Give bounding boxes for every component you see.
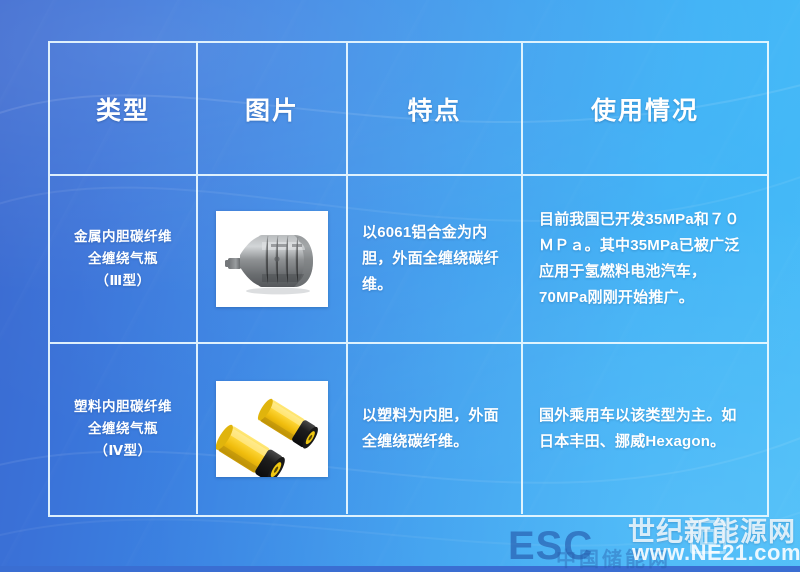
table-header-row: 类型 图片 特点 使用情况 <box>50 43 767 174</box>
metal-liner-cylinder-photo <box>216 211 328 307</box>
cell-picture-row2 <box>196 344 346 514</box>
usage-text-row1: 目前我国已开发35MPa和７０ＭＰａ。其中35MPa已被广泛应用于氢燃料电池汽车… <box>523 207 767 311</box>
type-name-line: 金属内胆碳纤维 <box>74 226 172 248</box>
table-row: 金属内胆碳纤维 全缠绕气瓶 （Ⅲ型） <box>50 174 767 344</box>
table-header-cell-type: 类型 <box>50 43 196 174</box>
type-name-block-row1: 金属内胆碳纤维 全缠绕气瓶 （Ⅲ型） <box>68 226 178 292</box>
cell-type-name-row1: 金属内胆碳纤维 全缠绕气瓶 （Ⅲ型） <box>50 176 196 342</box>
header-label-usage: 使用情况 <box>591 91 699 127</box>
type-name-line: 塑料内胆碳纤维 <box>74 396 172 418</box>
type-name-line: 全缠绕气瓶 <box>74 418 172 440</box>
header-label-features: 特点 <box>407 91 461 127</box>
table-header-cell-features: 特点 <box>346 43 521 174</box>
cell-usage-row2: 国外乘用车以该类型为主。如日本丰田、挪威Hexagon。 <box>521 344 767 514</box>
type-name-line: 全缠绕气瓶 <box>74 248 172 270</box>
type-name-block-row2: 塑料内胆碳纤维 全缠绕气瓶 （Ⅳ型） <box>68 396 178 462</box>
table-header-cell-usage: 使用情况 <box>521 43 767 174</box>
cell-type-name-row2: 塑料内胆碳纤维 全缠绕气瓶 （Ⅳ型） <box>50 344 196 514</box>
type-name-line: （Ⅳ型） <box>74 440 172 462</box>
comparison-table: 类型 图片 特点 使用情况 金属内胆碳纤维 全缠绕气瓶 （Ⅲ型） <box>48 41 769 517</box>
header-label-picture: 图片 <box>245 91 299 127</box>
cell-features-row2: 以塑料为内胆，外面全缠绕碳纤维。 <box>346 344 521 514</box>
table-row: 塑料内胆碳纤维 全缠绕气瓶 （Ⅳ型） <box>50 344 767 514</box>
features-text-row1: 以6061铝合金为内胆，外面全缠绕碳纤维。 <box>348 220 521 298</box>
header-label-type: 类型 <box>96 91 150 127</box>
type-name-line: （Ⅲ型） <box>74 270 172 292</box>
plastic-liner-cylinder-photo <box>216 381 328 477</box>
cell-usage-row1: 目前我国已开发35MPa和７０ＭＰａ。其中35MPa已被广泛应用于氢燃料电池汽车… <box>521 176 767 342</box>
table-header-cell-picture: 图片 <box>196 43 346 174</box>
cell-picture-row1 <box>196 176 346 342</box>
usage-text-row2: 国外乘用车以该类型为主。如日本丰田、挪威Hexagon。 <box>523 403 767 455</box>
cell-features-row1: 以6061铝合金为内胆，外面全缠绕碳纤维。 <box>346 176 521 342</box>
features-text-row2: 以塑料为内胆，外面全缠绕碳纤维。 <box>348 403 521 455</box>
